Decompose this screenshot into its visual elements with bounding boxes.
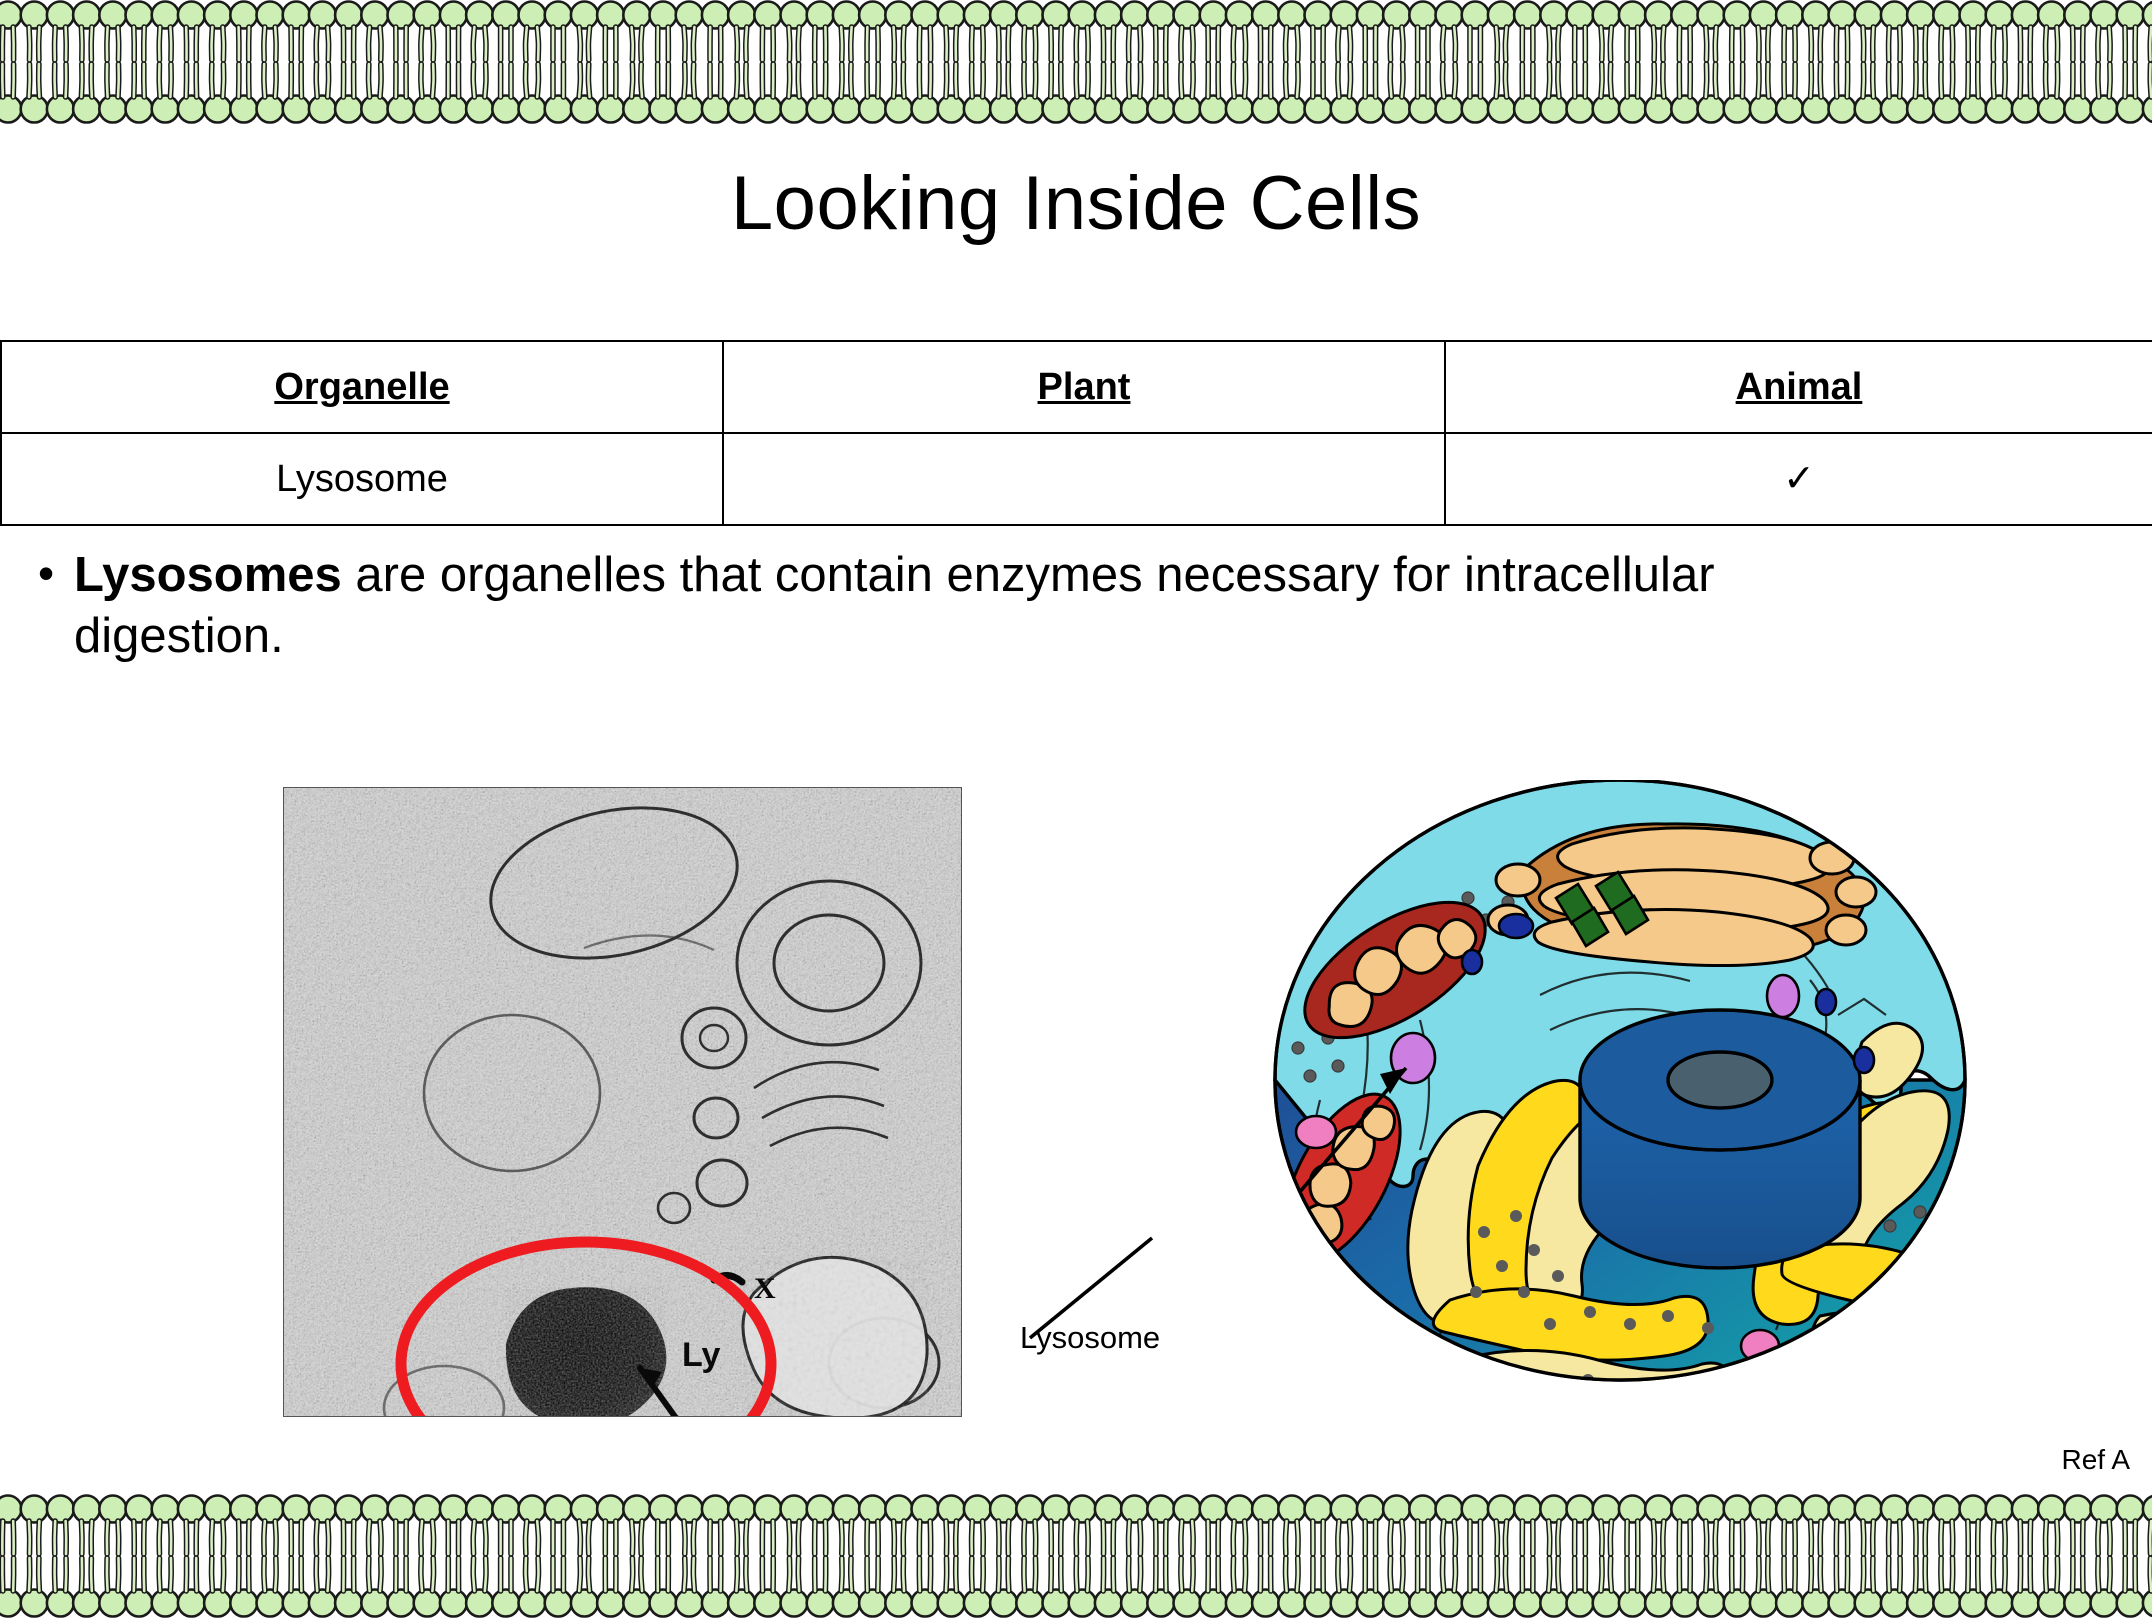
phospholipid-molecule [1383, 1558, 1410, 1617]
bullet-bold-term: Lysosomes [74, 548, 342, 602]
phospholipid-molecule [21, 2, 48, 61]
phospholipid-bilayer-bottom [0, 1494, 2152, 1618]
phospholipid-molecule [1121, 2, 1148, 61]
cell-organelle-name: Lysosome [1, 433, 723, 525]
phospholipid-molecule [938, 1496, 965, 1555]
phospholipid-molecule [833, 1558, 860, 1617]
phospholipid-molecule [754, 64, 781, 123]
phospholipid-molecule [1488, 1558, 1515, 1617]
phospholipid-molecule [1514, 64, 1541, 123]
phospholipid-molecule [230, 64, 257, 123]
phospholipid-molecule [1567, 1496, 1594, 1555]
phospholipid-molecule [807, 1496, 834, 1555]
phospholipid-molecule [2064, 1558, 2091, 1617]
phospholipid-molecule [1540, 1496, 1567, 1555]
phospholipid-molecule [126, 64, 153, 123]
phospholipid-molecule [388, 64, 415, 123]
phospholipid-molecule [545, 2, 572, 61]
lysosome-electron-micrograph: X Ly [283, 787, 962, 1417]
phospholipid-molecule [1619, 2, 1646, 61]
phospholipid-molecule [21, 64, 48, 123]
phospholipid-molecule [1436, 64, 1463, 123]
phospholipid-molecule [964, 1558, 991, 1617]
cell-plant-value [723, 433, 1445, 525]
phospholipid-molecule [859, 1496, 886, 1555]
phospholipid-molecule [1200, 64, 1227, 123]
phospholipid-molecule [1619, 1558, 1646, 1617]
phospholipid-molecule [1278, 1558, 1305, 1617]
phospholipid-molecule [47, 64, 74, 123]
phospholipid-molecule [1750, 1496, 1777, 1555]
svg-text:X: X [754, 1272, 776, 1305]
phospholipid-molecule [99, 1558, 126, 1617]
phospholipid-molecule [833, 64, 860, 123]
phospholipid-molecule [1357, 2, 1384, 61]
table-header-animal: Animal [1445, 341, 2152, 433]
phospholipid-molecule [309, 64, 336, 123]
phospholipid-molecule [1907, 1496, 1934, 1555]
phospholipid-molecule [152, 1496, 179, 1555]
phospholipid-molecule [2012, 64, 2039, 123]
phospholipid-molecule [1724, 2, 1751, 61]
phospholipid-molecule [492, 1496, 519, 1555]
micrograph-ly-label: Ly [682, 1336, 721, 1374]
phospholipid-molecule [519, 1496, 546, 1555]
phospholipid-molecule [1409, 64, 1436, 123]
phospholipid-molecule [309, 1558, 336, 1617]
phospholipid-molecule [2143, 2, 2152, 61]
phospholipid-molecule [204, 64, 231, 123]
phospholipid-molecule [492, 64, 519, 123]
phospholipid-molecule [1226, 1558, 1253, 1617]
phospholipid-molecule [571, 1558, 598, 1617]
phospholipid-molecule [938, 2, 965, 61]
phospholipid-molecule [1357, 1558, 1384, 1617]
phospholipid-molecule [1278, 64, 1305, 123]
phospholipid-molecule [885, 64, 912, 123]
phospholipid-molecule [257, 64, 284, 123]
phospholipid-molecule [1488, 1496, 1515, 1555]
phospholipid-molecule [597, 2, 624, 61]
phospholipid-molecule [1514, 1496, 1541, 1555]
phospholipid-molecule [1147, 1558, 1174, 1617]
phospholipid-molecule [1986, 1496, 2013, 1555]
phospholipid-molecule [1200, 1558, 1227, 1617]
phospholipid-molecule [1802, 1496, 1829, 1555]
phospholipid-molecule [650, 1496, 677, 1555]
phospholipid-molecule [2117, 2, 2144, 61]
phospholipid-molecule [1750, 2, 1777, 61]
phospholipid-molecule [1174, 64, 1201, 123]
phospholipid-molecule [1436, 2, 1463, 61]
phospholipid-molecule [859, 1558, 886, 1617]
phospholipid-molecule [2117, 1496, 2144, 1555]
phospholipid-molecule [1671, 64, 1698, 123]
phospholipid-molecule [466, 1496, 493, 1555]
phospholipid-molecule [73, 64, 100, 123]
phospholipid-molecule [1069, 1558, 1096, 1617]
phospholipid-molecule [204, 1496, 231, 1555]
phospholipid-molecule [126, 1496, 153, 1555]
phospholipid-molecule [964, 64, 991, 123]
phospholipid-molecule [754, 2, 781, 61]
phospholipid-molecule [1855, 2, 1882, 61]
phospholipid-molecule [1095, 64, 1122, 123]
phospholipid-molecule [571, 64, 598, 123]
phospholipid-molecule [466, 1558, 493, 1617]
phospholipid-molecule [1357, 64, 1384, 123]
phospholipid-molecule [178, 1558, 205, 1617]
phospholipid-molecule [204, 2, 231, 61]
phospholipid-molecule [833, 1496, 860, 1555]
table-header-plant: Plant [723, 341, 1445, 433]
phospholipid-molecule [257, 1558, 284, 1617]
phospholipid-molecule [1200, 1496, 1227, 1555]
phospholipid-molecule [1226, 64, 1253, 123]
phospholipid-molecule [1514, 1558, 1541, 1617]
phospholipid-molecule [21, 1496, 48, 1555]
phospholipid-molecule [623, 64, 650, 123]
phospholipid-molecule [1121, 64, 1148, 123]
phospholipid-molecule [2117, 64, 2144, 123]
phospholipid-molecule [47, 1496, 74, 1555]
phospholipid-molecule [388, 1558, 415, 1617]
phospholipid-molecule [0, 1558, 22, 1617]
phospholipid-molecule [1043, 1558, 1070, 1617]
phospholipid-molecule [1436, 1558, 1463, 1617]
phospholipid-molecule [519, 2, 546, 61]
phospholipid-molecule [545, 64, 572, 123]
phospholipid-molecule [1409, 1558, 1436, 1617]
phospholipid-molecule [1776, 64, 1803, 123]
phospholipid-molecule [1960, 1496, 1987, 1555]
phospholipid-molecule [1383, 1496, 1410, 1555]
phospholipid-molecule [1593, 64, 1620, 123]
phospholipid-molecule [47, 2, 74, 61]
phospholipid-molecule [1933, 1496, 1960, 1555]
phospholipid-molecule [1016, 1558, 1043, 1617]
phospholipid-molecule [1043, 2, 1070, 61]
phospholipid-molecule [676, 1558, 703, 1617]
bullet-marker: • [18, 545, 74, 603]
phospholipid-molecule [178, 1496, 205, 1555]
phospholipid-molecule [73, 1496, 100, 1555]
phospholipid-molecule [1043, 64, 1070, 123]
phospholipid-molecule [1436, 1496, 1463, 1555]
phospholipid-molecule [676, 2, 703, 61]
phospholipid-molecule [807, 1558, 834, 1617]
phospholipid-molecule [2143, 1496, 2152, 1555]
phospholipid-molecule [2012, 1496, 2039, 1555]
phospholipid-molecule [1776, 1558, 1803, 1617]
phospholipid-molecule [754, 1496, 781, 1555]
phospholipid-molecule [283, 1558, 310, 1617]
phospholipid-molecule [623, 1496, 650, 1555]
phospholipid-molecule [466, 2, 493, 61]
phospholipid-molecule [1881, 1496, 1908, 1555]
phospholipid-molecule [1383, 2, 1410, 61]
phospholipid-molecule [1698, 64, 1725, 123]
phospholipid-molecule [1750, 1558, 1777, 1617]
phospholipid-molecule [178, 64, 205, 123]
phospholipid-molecule [309, 1496, 336, 1555]
phospholipid-molecule [1855, 1558, 1882, 1617]
table-row: Lysosome ✓ [1, 433, 2152, 525]
phospholipid-molecule [807, 64, 834, 123]
phospholipid-molecule [833, 2, 860, 61]
phospholipid-molecule [1776, 1496, 1803, 1555]
phospholipid-molecule [0, 1496, 22, 1555]
phospholipid-molecule [99, 64, 126, 123]
phospholipid-molecule [230, 1496, 257, 1555]
phospholipid-molecule [1724, 64, 1751, 123]
phospholipid-molecule [99, 1496, 126, 1555]
phospholipid-molecule [440, 1558, 467, 1617]
phospholipid-molecule [1252, 64, 1279, 123]
phospholipid-molecule [571, 1496, 598, 1555]
phospholipid-molecule [257, 2, 284, 61]
bullet-body: Lysosomes are organelles that contain en… [74, 545, 1918, 668]
phospholipid-molecule [597, 1558, 624, 1617]
phospholipid-molecule [152, 64, 179, 123]
phospholipid-molecule [2143, 64, 2152, 123]
phospholipid-molecule [650, 1558, 677, 1617]
phospholipid-molecule [702, 2, 729, 61]
phospholipid-molecule [440, 2, 467, 61]
phospholipid-molecule [807, 2, 834, 61]
phospholipid-molecule [1907, 2, 1934, 61]
slide-title: Looking Inside Cells [0, 166, 2152, 242]
phospholipid-molecule [728, 64, 755, 123]
phospholipid-molecule [702, 1558, 729, 1617]
cell-animal-value: ✓ [1445, 433, 2152, 525]
phospholipid-molecule [676, 1496, 703, 1555]
phospholipid-molecule [859, 64, 886, 123]
phospholipid-molecule [1986, 64, 2013, 123]
phospholipid-molecule [1933, 64, 1960, 123]
phospholipid-molecule [230, 2, 257, 61]
phospholipid-molecule [1802, 2, 1829, 61]
phospholipid-molecule [204, 1558, 231, 1617]
phospholipid-molecule [1593, 1558, 1620, 1617]
phospholipid-molecule [1462, 64, 1489, 123]
phospholipid-molecule [781, 1558, 808, 1617]
phospholipid-molecule [2012, 2, 2039, 61]
phospholipid-molecule [1252, 2, 1279, 61]
phospholipid-molecule [73, 1558, 100, 1617]
phospholipid-molecule [1069, 2, 1096, 61]
phospholipid-molecule [1016, 64, 1043, 123]
phospholipid-molecule [1645, 64, 1672, 123]
phospholipid-molecule [1488, 64, 1515, 123]
phospholipid-molecule [1147, 2, 1174, 61]
reference-label: Ref A [2062, 1444, 2130, 1476]
phospholipid-molecule [283, 64, 310, 123]
phospholipid-molecule [1252, 1558, 1279, 1617]
phospholipid-molecule [885, 1496, 912, 1555]
phospholipid-molecule [1829, 1558, 1856, 1617]
table-header-organelle: Organelle [1, 341, 723, 433]
phospholipid-bilayer-top [0, 0, 2152, 124]
phospholipid-molecule [1593, 1496, 1620, 1555]
phospholipid-molecule [1698, 1558, 1725, 1617]
phospholipid-molecule [1305, 64, 1332, 123]
phospholipid-molecule [335, 1496, 362, 1555]
nucleus [1580, 1010, 1860, 1268]
phospholipid-molecule [1698, 1496, 1725, 1555]
slide-root: Looking Inside Cells Organelle Plant Ani… [0, 0, 2152, 1618]
phospholipid-molecule [885, 1558, 912, 1617]
phospholipid-molecule [1409, 1496, 1436, 1555]
phospholipid-molecule [1147, 1496, 1174, 1555]
phospholipid-molecule [1174, 1558, 1201, 1617]
table-header-row: Organelle Plant Animal [1, 341, 2152, 433]
phospholipid-molecule [1462, 1558, 1489, 1617]
phospholipid-molecule [1462, 2, 1489, 61]
phospholipid-molecule [676, 64, 703, 123]
phospholipid-molecule [1409, 2, 1436, 61]
phospholipid-molecule [1829, 1496, 1856, 1555]
nucleolus [1668, 1052, 1772, 1108]
phospholipid-molecule [1907, 64, 1934, 123]
phospholipid-molecule [1488, 2, 1515, 61]
phospholipid-molecule [1278, 1496, 1305, 1555]
list-item: • Lysosomes are organelles that contain … [18, 545, 1918, 668]
phospholipid-molecule [2038, 64, 2065, 123]
phospholipid-molecule [545, 1558, 572, 1617]
phospholipid-molecule [178, 2, 205, 61]
bullet-list: • Lysosomes are organelles that contain … [18, 545, 1918, 668]
phospholipid-molecule [361, 2, 388, 61]
phospholipid-molecule [597, 64, 624, 123]
phospholipid-molecule [492, 2, 519, 61]
phospholipid-molecule [1121, 1558, 1148, 1617]
phospholipid-molecule [1567, 2, 1594, 61]
phospholipid-molecule [728, 1558, 755, 1617]
phospholipid-molecule [545, 1496, 572, 1555]
phospholipid-molecule [1278, 2, 1305, 61]
phospholipid-molecule [938, 64, 965, 123]
phospholipid-molecule [1802, 64, 1829, 123]
phospholipid-molecule [912, 1558, 939, 1617]
phospholipid-molecule [361, 1496, 388, 1555]
phospholipid-molecule [990, 2, 1017, 61]
phospholipid-molecule [1174, 1496, 1201, 1555]
phospholipid-molecule [781, 2, 808, 61]
phospholipid-molecule [2117, 1558, 2144, 1617]
phospholipid-molecule [728, 1496, 755, 1555]
phospholipid-molecule [1671, 1496, 1698, 1555]
phospholipid-molecule [754, 1558, 781, 1617]
phospholipid-molecule [126, 1558, 153, 1617]
phospholipid-molecule [440, 1496, 467, 1555]
phospholipid-molecule [2091, 1558, 2118, 1617]
phospholipid-molecule [990, 64, 1017, 123]
phospholipid-molecule [335, 2, 362, 61]
phospholipid-molecule [2091, 2, 2118, 61]
phospholipid-molecule [1016, 1496, 1043, 1555]
phospholipid-molecule [440, 64, 467, 123]
phospholipid-molecule [1226, 2, 1253, 61]
phospholipid-molecule [964, 1496, 991, 1555]
phospholipid-molecule [571, 2, 598, 61]
phospholipid-molecule [1724, 1558, 1751, 1617]
phospholipid-molecule [650, 64, 677, 123]
phospholipid-molecule [912, 1496, 939, 1555]
phospholipid-molecule [1540, 1558, 1567, 1617]
phospholipid-molecule [1750, 64, 1777, 123]
phospholipid-molecule [597, 1496, 624, 1555]
phospholipid-molecule [1593, 2, 1620, 61]
phospholipid-molecule [1540, 2, 1567, 61]
phospholipid-molecule [702, 1496, 729, 1555]
phospholipid-molecule [1855, 64, 1882, 123]
phospholipid-molecule [1619, 64, 1646, 123]
phospholipid-molecule [938, 1558, 965, 1617]
phospholipid-molecule [990, 1496, 1017, 1555]
phospholipid-molecule [964, 2, 991, 61]
phospholipid-molecule [414, 1496, 441, 1555]
phospholipid-molecule [1069, 64, 1096, 123]
phospholipid-molecule [1357, 1496, 1384, 1555]
phospholipid-molecule [1960, 1558, 1987, 1617]
phospholipid-molecule [1095, 1558, 1122, 1617]
phospholipid-molecule [388, 1496, 415, 1555]
phospholipid-molecule [1383, 64, 1410, 123]
phospholipid-molecule [283, 2, 310, 61]
phospholipid-molecule [2038, 2, 2065, 61]
phospholipid-molecule [492, 1558, 519, 1617]
phospholipid-molecule [1933, 1558, 1960, 1617]
phospholipid-molecule [519, 64, 546, 123]
phospholipid-molecule [1698, 2, 1725, 61]
phospholipid-molecule [361, 1558, 388, 1617]
phospholipid-molecule [1829, 2, 1856, 61]
phospholipid-molecule [47, 1558, 74, 1617]
phospholipid-molecule [1226, 1496, 1253, 1555]
phospholipid-molecule [1305, 2, 1332, 61]
phospholipid-molecule [728, 2, 755, 61]
phospholipid-molecule [650, 2, 677, 61]
phospholipid-molecule [1855, 1496, 1882, 1555]
phospholipid-molecule [781, 1496, 808, 1555]
phospholipid-molecule [912, 2, 939, 61]
organelle-table: Organelle Plant Animal Lysosome ✓ [0, 340, 2152, 526]
phospholipid-molecule [388, 2, 415, 61]
phospholipid-molecule [1095, 2, 1122, 61]
phospholipid-molecule [1724, 1496, 1751, 1555]
phospholipid-molecule [2038, 1496, 2065, 1555]
phospholipid-molecule [1960, 64, 1987, 123]
phospholipid-molecule [414, 2, 441, 61]
phospholipid-molecule [2012, 1558, 2039, 1617]
phospholipid-molecule [152, 2, 179, 61]
phospholipid-molecule [1174, 2, 1201, 61]
phospholipid-molecule [414, 64, 441, 123]
phospholipid-molecule [1147, 64, 1174, 123]
phospholipid-molecule [1645, 2, 1672, 61]
phospholipid-molecule [126, 2, 153, 61]
phospholipid-molecule [885, 2, 912, 61]
phospholipid-molecule [283, 1496, 310, 1555]
phospholipid-molecule [1016, 2, 1043, 61]
phospholipid-molecule [309, 2, 336, 61]
phospholipid-molecule [623, 2, 650, 61]
phospholipid-molecule [152, 1558, 179, 1617]
phospholipid-molecule [1567, 1558, 1594, 1617]
phospholipid-molecule [1331, 1496, 1358, 1555]
phospholipid-molecule [2064, 2, 2091, 61]
